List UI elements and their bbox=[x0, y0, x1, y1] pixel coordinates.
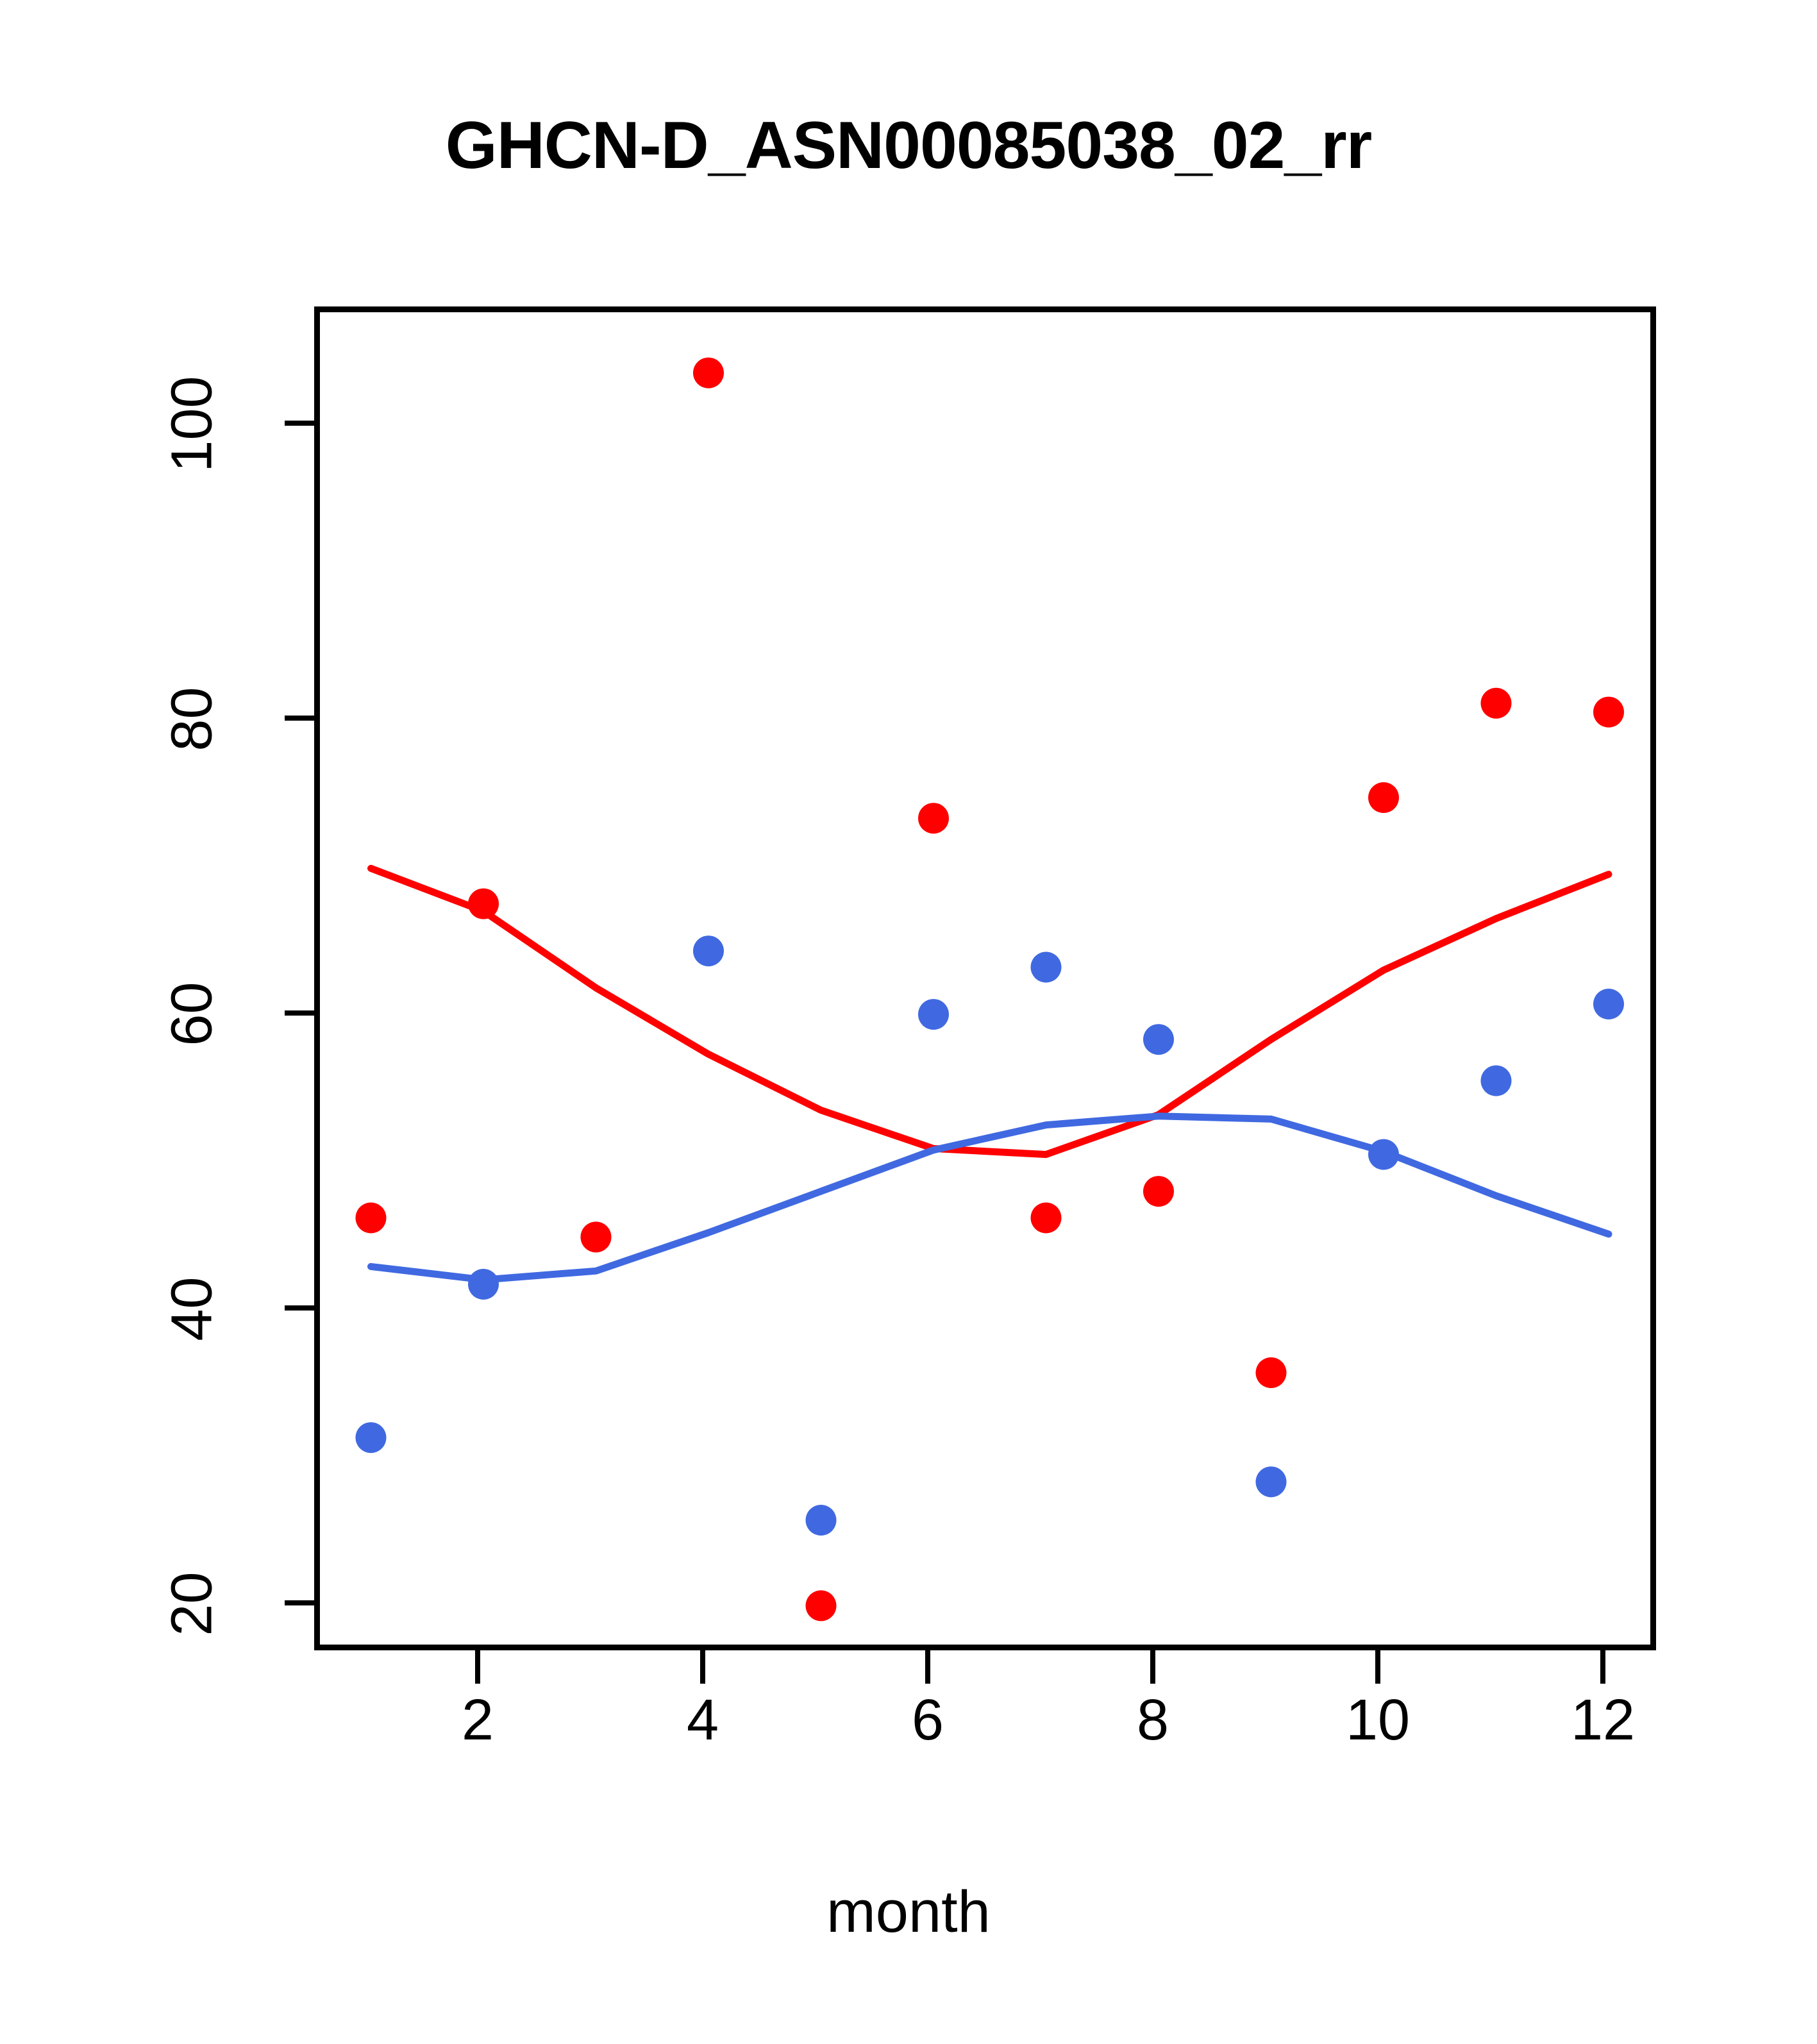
x-tick-label-2: 2 bbox=[401, 1688, 555, 1754]
data-point-red-points-11 bbox=[1481, 688, 1512, 719]
data-point-red-points-10 bbox=[1368, 782, 1399, 813]
y-tick-60 bbox=[285, 1010, 314, 1016]
y-tick-40 bbox=[285, 1305, 314, 1311]
y-tick-20 bbox=[285, 1600, 314, 1605]
data-point-red-points-8 bbox=[1143, 1176, 1174, 1207]
data-point-blue-points-4 bbox=[693, 935, 724, 966]
y-tick-label-40: 40 bbox=[160, 1248, 226, 1370]
series-line-blue-smooth bbox=[371, 1116, 1609, 1280]
data-point-blue-points-12 bbox=[1593, 989, 1624, 1019]
x-tick-label-10: 10 bbox=[1301, 1688, 1455, 1754]
x-tick-label-8: 8 bbox=[1076, 1688, 1230, 1754]
data-point-red-points-2 bbox=[468, 889, 499, 919]
data-point-red-points-7 bbox=[1031, 1203, 1062, 1234]
data-point-blue-points-2 bbox=[468, 1269, 499, 1300]
page-title: GHCN-D_ASN00085038_02_rr bbox=[0, 108, 1817, 184]
data-point-blue-points-11 bbox=[1481, 1066, 1512, 1096]
data-point-blue-points-8 bbox=[1143, 1024, 1174, 1055]
x-tick-label-6: 6 bbox=[851, 1688, 1005, 1754]
data-point-blue-points-7 bbox=[1031, 952, 1062, 983]
y-tick-100 bbox=[285, 421, 314, 426]
data-point-red-points-4 bbox=[693, 358, 724, 389]
data-point-red-points-9 bbox=[1256, 1357, 1287, 1388]
data-point-blue-points-5 bbox=[806, 1505, 837, 1536]
y-tick-80 bbox=[285, 716, 314, 721]
y-tick-label-80: 80 bbox=[160, 658, 226, 780]
plot-canvas bbox=[320, 312, 1662, 1656]
data-point-red-points-1 bbox=[356, 1203, 387, 1234]
data-point-blue-points-10 bbox=[1368, 1139, 1399, 1170]
x-tick-label-4: 4 bbox=[626, 1688, 780, 1754]
y-tick-label-60: 60 bbox=[160, 953, 226, 1075]
data-point-red-points-6 bbox=[918, 803, 949, 834]
y-tick-label-20: 20 bbox=[160, 1543, 226, 1665]
data-point-blue-points-9 bbox=[1256, 1466, 1287, 1497]
y-tick-label-100: 100 bbox=[160, 348, 226, 501]
data-point-blue-points-1 bbox=[356, 1422, 387, 1453]
plot-area bbox=[314, 306, 1656, 1650]
series-line-red-smooth bbox=[371, 868, 1609, 1154]
x-tick-label-12: 12 bbox=[1526, 1688, 1680, 1754]
chart-root: GHCN-D_ASN00085038_02_rr 100 80 60 40 20… bbox=[0, 0, 1817, 2044]
data-point-red-points-5 bbox=[806, 1590, 837, 1621]
data-point-red-points-12 bbox=[1593, 697, 1624, 728]
x-axis-label: month bbox=[0, 1879, 1817, 1946]
data-point-blue-points-6 bbox=[918, 999, 949, 1030]
data-point-red-points-3 bbox=[581, 1221, 612, 1252]
